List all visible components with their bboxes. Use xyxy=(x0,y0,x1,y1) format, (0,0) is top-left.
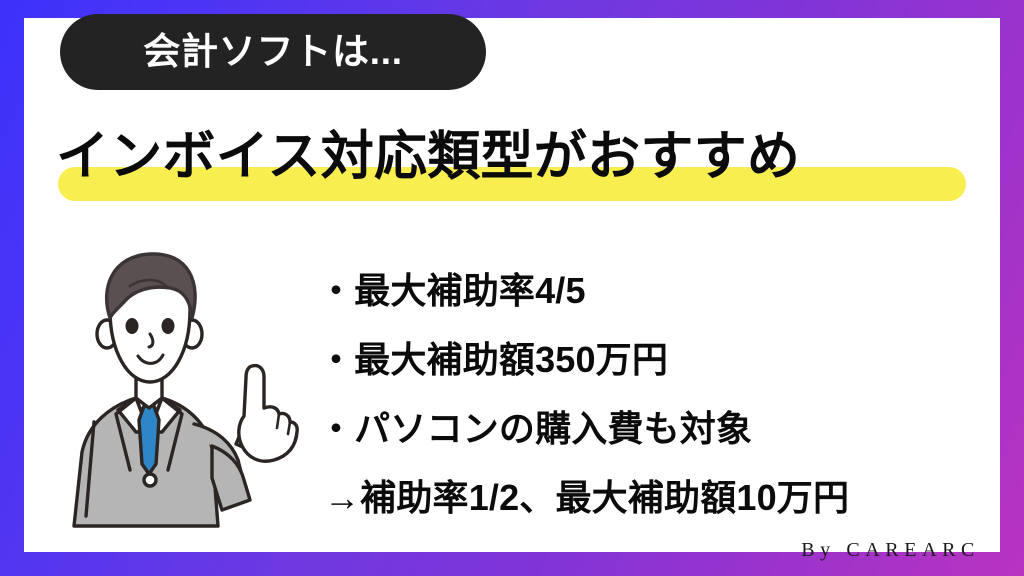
headline-block: インボイス対応類型がおすすめ xyxy=(56,120,968,210)
credit-byline: By CAREARC xyxy=(801,539,980,562)
bullet-list: ・最大補助率4/5 ・最大補助額350万円 ・パソコンの購入費も対象 →補助率1… xyxy=(318,256,978,532)
businessman-pointing-up-illustration xyxy=(66,248,302,540)
slide-root: 会計ソフトは... インボイス対応類型がおすすめ xyxy=(0,0,1024,576)
list-item: ・パソコンの購入費も対象 xyxy=(318,394,978,463)
list-item: →補助率1/2、最大補助額10万円 xyxy=(324,463,978,532)
headline-text: インボイス対応類型がおすすめ xyxy=(56,120,968,194)
badge-label: 会計ソフトは... xyxy=(143,33,403,72)
list-item: ・最大補助額350万円 xyxy=(318,325,978,394)
badge-pill: 会計ソフトは... xyxy=(60,14,486,90)
list-item: ・最大補助率4/5 xyxy=(318,256,978,325)
